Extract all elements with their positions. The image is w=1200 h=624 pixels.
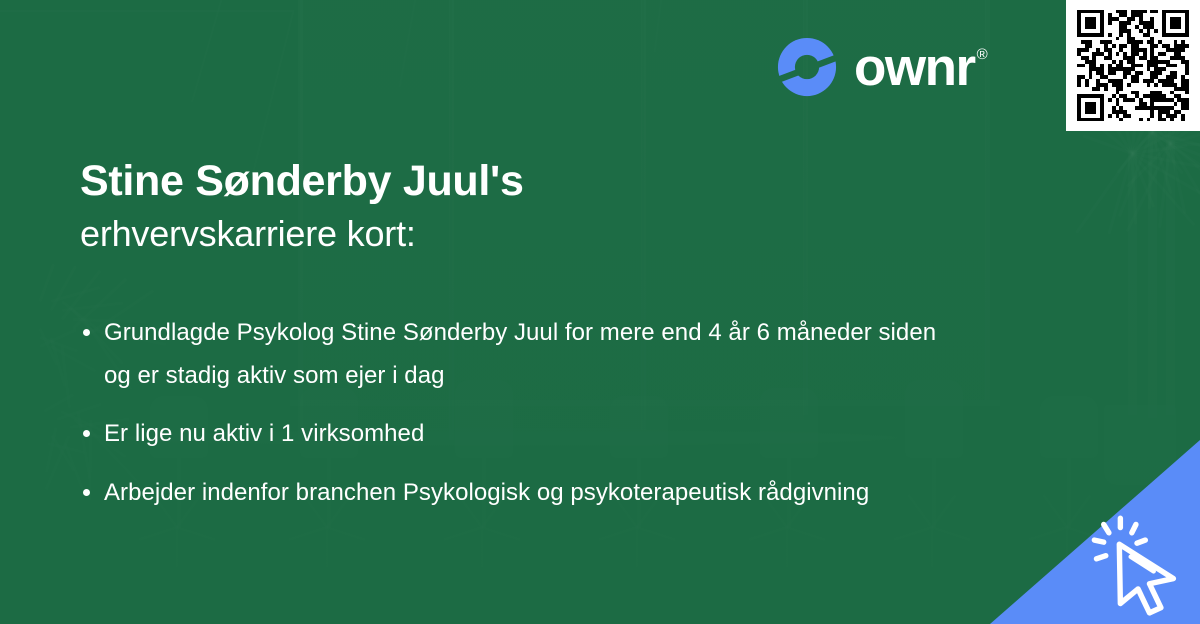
bullet-dot-icon [83, 489, 90, 496]
page-title: Stine Sønderby Juul's erhvervskarriere k… [80, 156, 980, 258]
ownr-wordmark: ownr [854, 41, 975, 94]
list-item: Grundlagde Psykolog Stine Sønderby Juul … [80, 312, 960, 397]
qr-code-matrix [1077, 10, 1189, 122]
registered-trademark-symbol: ® [977, 47, 988, 62]
headline-subtitle: erhvervskarriere kort: [80, 211, 980, 258]
qr-code[interactable] [1066, 0, 1200, 131]
bullet-dot-icon [83, 329, 90, 336]
list-item-text: Grundlagde Psykolog Stine Sønderby Juul … [104, 319, 936, 389]
list-item-text: Er lige nu aktiv i 1 virksomhed [104, 420, 424, 447]
ownr-logo[interactable]: ownr ® [776, 36, 988, 98]
career-card: ownr ® Stine Sønderby Juul's erhvervskar… [0, 0, 1200, 624]
list-item-text: Arbejder indenfor branchen Psykologisk o… [104, 479, 869, 506]
ownr-swoosh-circle-icon [776, 36, 838, 98]
click-cursor-icon [1085, 512, 1189, 616]
list-item: Er lige nu aktiv i 1 virksomhed [80, 413, 960, 456]
headline-name: Stine Sønderby Juul's [80, 156, 980, 207]
list-item: Arbejder indenfor branchen Psykologisk o… [80, 472, 960, 515]
bullet-dot-icon [83, 430, 90, 437]
career-facts-list: Grundlagde Psykolog Stine Sønderby Juul … [80, 312, 960, 531]
